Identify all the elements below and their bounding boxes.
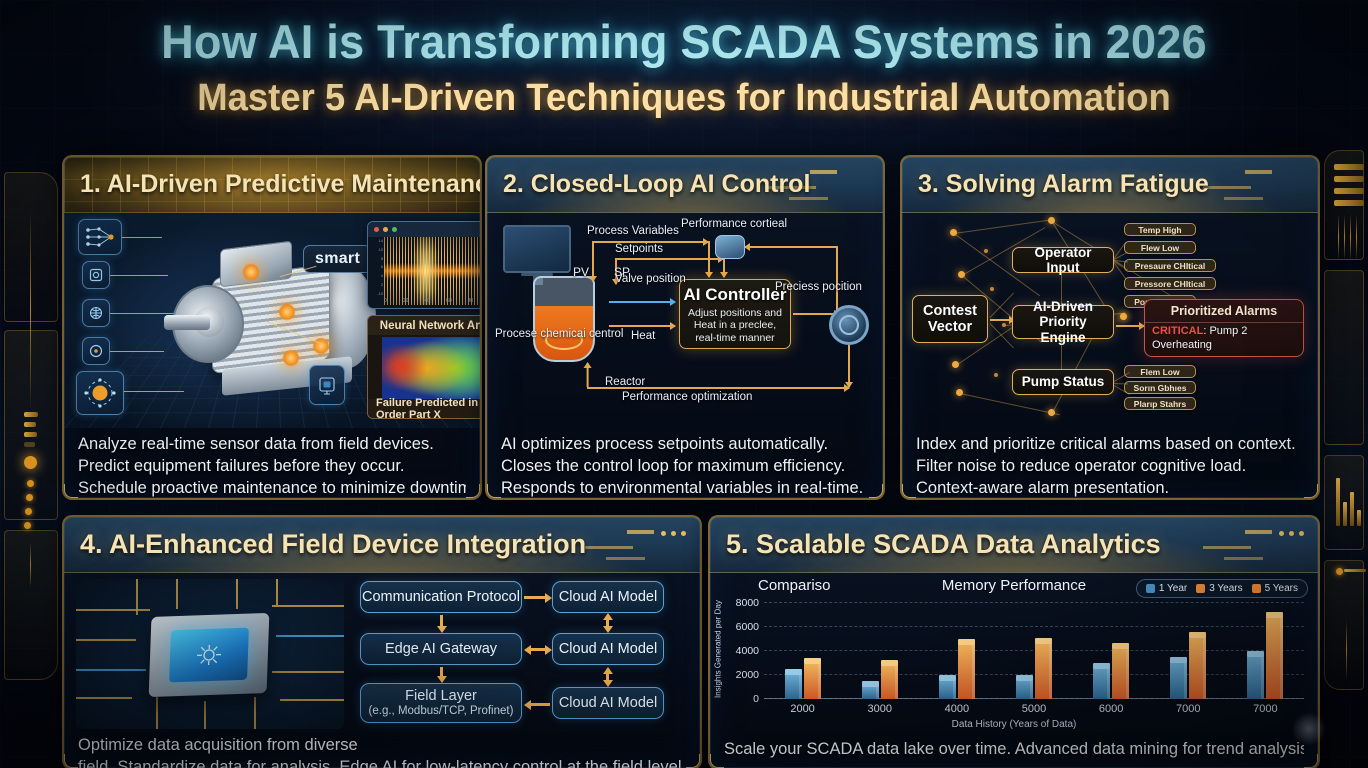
card-header: 2. Closed-Loop AI Control	[487, 157, 883, 213]
chart-bar	[1247, 656, 1264, 699]
chart-bar	[804, 663, 821, 699]
reactor-vessel-icon	[533, 276, 595, 362]
vibration-waveform-panel: ••• 14108642-10 020406080100120	[367, 221, 480, 309]
card-header: 5. Scalable SCADA Data Analytics	[710, 517, 1318, 573]
flow-arrow-bidirectional	[530, 648, 546, 651]
label-performance-cortical: Performance cortieal	[681, 218, 787, 231]
context-vector-node: Contest Vector	[912, 295, 988, 343]
hud-line	[1356, 214, 1357, 260]
chart-bar	[1266, 617, 1283, 699]
alarm-tag: Sorın Gbhıes	[1124, 381, 1196, 394]
alarm-text: Pump 2 Overheating	[1152, 357, 1247, 358]
card-header: 1. AI-Driven Predictive Maintenance	[64, 157, 480, 213]
fan-link	[1114, 383, 1128, 384]
chart-legend[interactable]: 1 Year 3 Years 5 Years	[1136, 579, 1308, 598]
chart-x-tick: 4000	[918, 703, 995, 715]
device-icon	[309, 365, 345, 405]
chart-bar	[958, 644, 975, 699]
alarms-panel-title: Prioritized Alarms	[1145, 300, 1303, 323]
controller-title: AI Controller	[680, 285, 790, 305]
chart-bar	[939, 680, 956, 699]
chart-plot-area: 02000400060008000	[764, 603, 1304, 699]
chart-x-tick-labels: 2000300040005000600070007000	[764, 703, 1304, 715]
hud-bar	[24, 432, 37, 437]
chart-bar-top	[804, 658, 821, 664]
chart-y-axis-label: Insights Generated per Day	[712, 601, 724, 697]
hud-bar	[1334, 164, 1364, 170]
pump-status-node: Pump Status	[1012, 369, 1114, 395]
chart-bar-group	[918, 603, 995, 699]
flow-box-label: Cloud AI Model	[559, 641, 657, 657]
chart-x-tick: 6000	[1073, 703, 1150, 715]
desc-line: Closes the control loop for maximum effi…	[501, 456, 869, 478]
prioritized-alarms-panel: Prioritized Alarms CRITICAL: Pump 2 Over…	[1144, 299, 1304, 357]
hmi-monitor-icon	[503, 225, 571, 273]
alarm-prioritization-diagram: Contest Vector Operator Input AI-Driven …	[902, 213, 1318, 428]
sp-drop	[723, 258, 725, 277]
hud-bar	[1334, 188, 1364, 194]
motor-shaft	[164, 315, 210, 330]
engine-to-alarms-arrow	[1116, 325, 1144, 327]
actuator-gear-icon	[829, 305, 869, 345]
hotspot-indicator	[242, 263, 260, 281]
label-precise-position: Preciess pocition	[775, 281, 839, 294]
sensor-icon	[82, 261, 110, 289]
label-valve-position: Valve position	[615, 273, 679, 286]
chart-bar-groups	[764, 603, 1304, 699]
hud-line	[1350, 214, 1351, 260]
desc-line: Index and prioritize critical alarms bas…	[916, 434, 1304, 456]
performance-cortical-icon	[715, 235, 745, 259]
desc-line: field. Standardize data for analysis. Ed…	[78, 757, 686, 768]
lead-line	[110, 275, 168, 276]
label-heat: Heat	[631, 330, 655, 343]
card-title: 1. AI-Driven Predictive Maintenance	[80, 170, 482, 199]
neural-network-analysis-panel: Neural Network Analysis ▽ Failure Predic…	[367, 315, 480, 419]
pv-stem	[592, 241, 594, 281]
card-alarm-fatigue[interactable]: 3. Solving Alarm Fatigue Contest Vector	[900, 155, 1320, 500]
chart-bar-top	[1035, 638, 1052, 644]
card-title: 3. Solving Alarm Fatigue	[918, 170, 1209, 199]
cortex-feedback-wire	[745, 246, 837, 248]
chart-bar-group	[841, 603, 918, 699]
hud-bar	[24, 442, 35, 447]
hud-line	[30, 210, 31, 410]
waveform-x-axis: 020406080100120	[384, 298, 480, 307]
mesh-node	[994, 373, 998, 377]
alarm-tag: Flem Low	[1124, 365, 1196, 378]
desc-line: Filter noise to reduce operator cognitiv…	[916, 456, 1304, 478]
right-hud-decoration	[1320, 150, 1368, 708]
legend-item-2: 3 Years	[1196, 583, 1242, 594]
chart-bar-top	[862, 681, 879, 687]
alarm-severity: CRITICAL	[1152, 325, 1203, 337]
card-field-device-integration[interactable]: 4. AI-Enhanced Field Device Integration	[62, 515, 702, 768]
label-setpoints: Setpoints	[615, 243, 663, 256]
card-description: AI optimizes process setpoints automatic…	[487, 428, 883, 500]
desc-line: Responds to environmental variables in r…	[501, 478, 869, 500]
chart-x-tick: 3000	[841, 703, 918, 715]
alarm-tag: Pressore CHItical	[1124, 277, 1216, 290]
chart-bar-top	[1016, 675, 1033, 681]
flow-box-label: Edge AI Gateway	[385, 641, 497, 657]
hud-dot	[26, 494, 33, 501]
priority-engine-node: AI-Driven Priority Engine	[1012, 305, 1114, 339]
hud-line	[30, 542, 31, 588]
hotspot-indicator	[278, 303, 296, 321]
card-title: 2. Closed-Loop AI Control	[503, 170, 810, 199]
flow-arrow-down	[440, 667, 443, 677]
label-performance-optimization: Performance optimization	[622, 391, 752, 404]
left-hud-decoration	[0, 150, 62, 708]
flow-box-edge-ai-gateway[interactable]: Edge AI Gateway	[360, 633, 522, 665]
context-to-engine-arrow	[990, 319, 1014, 321]
hud-dot	[24, 522, 31, 529]
context-vector-label: Contest Vector	[917, 303, 983, 335]
flow-box-label: Cloud AI Model	[559, 589, 657, 605]
chart-y-tick: 4000	[736, 645, 759, 657]
neural-net-icon	[78, 219, 122, 255]
alarm-row: CRITICAL: Pump 2 Overheating	[1145, 323, 1303, 355]
chart-y-tick: 8000	[736, 597, 759, 609]
desc-line: Analyze real-time sensor data from field…	[78, 434, 466, 456]
chart-bar-top	[1266, 612, 1283, 618]
chip-die	[169, 628, 249, 683]
panel-title: Neural Network Analysis ▽	[368, 316, 480, 335]
legend-label: 3 Years	[1209, 583, 1242, 594]
card-title: 5. Scalable SCADA Data Analytics	[726, 529, 1161, 560]
mesh-link	[960, 393, 1060, 415]
chart-y-tick: 0	[753, 693, 759, 705]
flow-arrow-vertical	[606, 619, 609, 627]
failure-prediction-text: Failure Predicted in 48 hrs - Order Part…	[368, 399, 480, 418]
desc-line: Scale your SCADA data lake over time. Ad…	[724, 739, 1304, 761]
flow-box-field-layer[interactable]: Field Layer (e.g., Modbus/TCP, Profinet)	[360, 683, 522, 723]
label-pv: PV	[573, 266, 589, 280]
lead-line	[122, 237, 162, 238]
alarm-row: CRITICAL: Pump 2 Overheating	[1145, 355, 1303, 358]
alarm-tag: Flew Low	[1124, 241, 1196, 254]
operator-input-node: Operator Input	[1012, 247, 1114, 273]
card-header: 3. Solving Alarm Fatigue	[902, 157, 1318, 213]
window-titlebar: •••	[368, 222, 480, 237]
hud-bar	[1344, 569, 1366, 572]
lead-line	[110, 351, 164, 352]
mesh-node	[990, 287, 994, 291]
legend-label: 5 Years	[1265, 583, 1298, 594]
alarm-tag: Temp High	[1124, 223, 1196, 236]
card-scalable-data-analytics[interactable]: 5. Scalable SCADA Data Analytics Compari…	[708, 515, 1320, 768]
flow-box-cloud-ai-model-3[interactable]: Cloud AI Model	[552, 687, 664, 719]
flow-box-cloud-ai-model-2[interactable]: Cloud AI Model	[552, 633, 664, 665]
legend-item-3: 5 Years	[1252, 583, 1298, 594]
field-integration-diagram: Communication Protocol Edge AI Gateway F…	[64, 573, 700, 733]
hud-dot-large	[24, 456, 37, 469]
gear-feedback-stem	[848, 345, 850, 387]
flow-box-label: Communication Protocol	[362, 589, 520, 605]
waveform-plot	[384, 237, 480, 305]
hud-line	[1338, 214, 1339, 260]
chart-bar-top	[1247, 651, 1264, 657]
valve-position-wire	[609, 301, 675, 303]
header-block: How AI is Transforming SCADA Systems in …	[0, 14, 1368, 120]
card-title: 4. AI-Enhanced Field Device Integration	[80, 529, 586, 560]
chart-bar	[862, 686, 879, 699]
control-loop-diagram: Procese chemicai centrol Reactor PV SP P…	[487, 213, 883, 428]
chart-bar-top	[958, 639, 975, 645]
mesh-node	[984, 249, 988, 253]
chart-bar	[785, 674, 802, 699]
header-dots-icon	[661, 531, 686, 536]
hud-line	[1346, 620, 1347, 680]
card-description: Scale your SCADA data lake over time. Ad…	[710, 735, 1318, 768]
flow-box-label: Field Layer	[405, 688, 477, 704]
chart-bar-group	[764, 603, 841, 699]
chart-y-tick: 6000	[736, 621, 759, 633]
desc-line: Optimize data acquisition from diverse	[78, 735, 686, 757]
chart-bar-group	[1073, 603, 1150, 699]
hud-bar	[1334, 176, 1364, 182]
flow-box-label: Cloud AI Model	[559, 695, 657, 711]
performance-optimization-wire	[587, 387, 849, 389]
analytics-bar-chart: Compariso Memory Performance 1 Year 3 Ye…	[710, 573, 1318, 735]
card-description: Index and prioritize critical alarms bas…	[902, 428, 1318, 500]
mesh-link	[1061, 273, 1062, 305]
desc-line: Predict equipment failures before they o…	[78, 456, 466, 478]
hud-dot	[27, 480, 34, 487]
hud-plate	[1324, 270, 1364, 445]
ai-chip-illustration	[76, 579, 344, 729]
spectrogram-plot	[382, 337, 480, 399]
chart-bar-top	[1170, 657, 1187, 663]
hud-plate	[4, 530, 58, 680]
chart-bar	[1170, 662, 1187, 699]
reactor-return-stem	[587, 363, 589, 387]
mesh-node	[1120, 313, 1127, 320]
chart-bar	[881, 665, 898, 699]
gauge-icon	[82, 337, 110, 365]
desc-line: Schedule proactive maintenance to minimi…	[78, 478, 466, 500]
legend-item-1: 1 Year	[1146, 583, 1187, 594]
flow-box-cloud-ai-model-1[interactable]: Cloud AI Model	[552, 581, 664, 613]
chart-bar	[1093, 668, 1110, 699]
page-title: How AI is Transforming SCADA Systems in …	[27, 14, 1340, 69]
sparkle-decoration	[1292, 712, 1326, 746]
flow-box-sublabel: (e.g., Modbus/TCP, Profinet)	[369, 705, 514, 718]
hud-dot	[1336, 568, 1343, 575]
chart-bar-top	[1093, 663, 1110, 669]
network-icon	[82, 299, 110, 327]
chart-bar-top	[939, 675, 956, 681]
flow-arrow-right	[524, 596, 546, 599]
chart-bar	[1189, 637, 1206, 699]
hud-bar	[1334, 200, 1364, 206]
legend-label: 1 Year	[1159, 583, 1187, 594]
setpoints-wire	[615, 258, 723, 260]
waveform-y-axis: 14108642-10	[372, 238, 383, 296]
chart-bar-top	[785, 669, 802, 675]
flow-arrow-down	[440, 615, 443, 627]
chart-y-tick: 2000	[736, 669, 759, 681]
hud-line	[1344, 214, 1345, 260]
motor-illustration: smart ••• 14108642-10 02040608	[64, 213, 480, 428]
hud-plate	[1324, 560, 1364, 690]
card-description: Optimize data acquisition from diverse f…	[64, 733, 700, 768]
chart-bar	[1112, 648, 1129, 699]
smart-badge: smart	[303, 245, 372, 273]
card-header: 4. AI-Enhanced Field Device Integration	[64, 517, 700, 573]
ai-core-icon	[76, 371, 124, 415]
card-description: Analyze real-time sensor data from field…	[64, 428, 480, 500]
panel-title-text: Neural Network Analysis	[380, 320, 480, 332]
hud-dot	[25, 508, 32, 515]
card-closed-loop-control[interactable]: 2. Closed-Loop AI Control Procese chemic…	[485, 155, 885, 500]
chart-bar-top	[1112, 643, 1129, 649]
alarm-tag: Plarıp Stahrs	[1124, 397, 1196, 410]
chart-bar-group	[1150, 603, 1227, 699]
desc-line: Context-aware alarm presentation.	[916, 478, 1304, 500]
hud-bar	[24, 412, 38, 417]
hud-mini-chart	[1334, 468, 1366, 526]
mesh-link	[1061, 339, 1062, 369]
hud-bar	[24, 422, 36, 427]
flow-arrow-vertical	[606, 673, 609, 681]
header-dots-icon	[1279, 531, 1304, 536]
flow-box-communication-protocol[interactable]: Communication Protocol	[360, 581, 522, 613]
desc-line: AI optimizes process setpoints automatic…	[501, 434, 869, 456]
hotspot-indicator	[282, 349, 300, 367]
chart-bar-group	[995, 603, 1072, 699]
chart-bar-top	[1189, 632, 1206, 638]
chart-x-tick: 5000	[995, 703, 1072, 715]
page-subtitle: Master 5 AI-Driven Techniques for Indust…	[27, 77, 1340, 120]
card-predictive-maintenance[interactable]: 1. AI-Driven Predictive Maintenance	[62, 155, 482, 500]
chart-bar	[1016, 680, 1033, 699]
chart-bar-group	[1227, 603, 1304, 699]
mesh-link	[990, 293, 1014, 318]
alarm-severity: CRITICAL	[1152, 357, 1203, 358]
flow-arrow-left	[530, 703, 550, 706]
label-process-chemical-control: Procese chemicai centrol	[495, 328, 571, 341]
chart-x-tick: 2000	[764, 703, 841, 715]
chart-x-axis-label: Data History (Years of Data)	[710, 719, 1318, 730]
alarm-tag: Presaure CHItical	[1124, 259, 1216, 272]
chart-bar-top	[881, 660, 898, 666]
hud-plate	[4, 172, 58, 322]
chart-x-tick: 7000	[1150, 703, 1227, 715]
chart-bar	[1035, 643, 1052, 699]
controller-body: Adjust positions and Heat in a preclee, …	[680, 305, 790, 349]
heat-wire	[609, 325, 675, 327]
label-process-variables: Process Variables	[587, 225, 679, 238]
